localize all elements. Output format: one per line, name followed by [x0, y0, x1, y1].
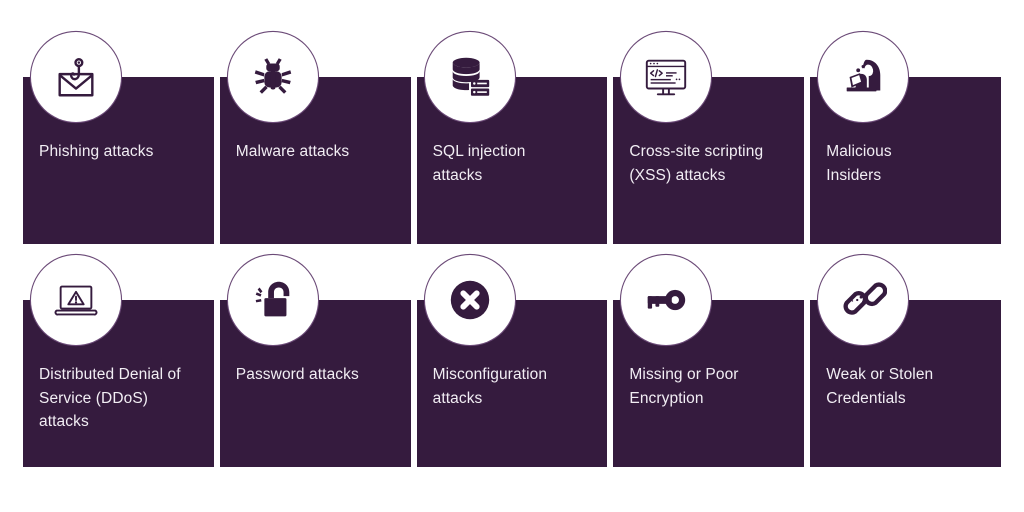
x-circle-icon	[425, 255, 515, 345]
card-label: Phishing attacks	[39, 140, 204, 164]
card-phishing[interactable]: Phishing attacks	[23, 32, 214, 244]
card-label: Cross-site scripting (XSS) attacks	[629, 140, 794, 187]
card-label: Password attacks	[236, 363, 401, 387]
card-encryption[interactable]: Missing or Poor Encryption	[613, 255, 804, 467]
card-row-top: Phishing attacks	[0, 32, 1024, 244]
card-label: Missing or Poor Encryption	[629, 363, 794, 410]
card-ddos[interactable]: Distributed Denial of Service (DDoS) att…	[23, 255, 214, 467]
card-row-bottom: Distributed Denial of Service (DDoS) att…	[0, 255, 1024, 467]
hooded-hacker-icon	[818, 32, 908, 122]
card-label: Malware attacks	[236, 140, 401, 164]
code-monitor-icon	[621, 32, 711, 122]
laptop-warning-icon	[31, 255, 121, 345]
card-label: SQL injection attacks	[433, 140, 598, 187]
broken-padlock-icon	[228, 255, 318, 345]
broken-chain-icon	[818, 255, 908, 345]
card-label: Distributed Denial of Service (DDoS) att…	[39, 363, 204, 434]
infographic-board: Phishing attacks	[0, 0, 1024, 512]
envelope-hook-icon	[31, 32, 121, 122]
card-sql-injection[interactable]: SQL injection attacks	[417, 32, 608, 244]
card-xss[interactable]: Cross-site scripting (XSS) attacks	[613, 32, 804, 244]
card-label: Misconfiguration attacks	[433, 363, 598, 410]
database-server-icon	[425, 32, 515, 122]
card-label: Malicious Insiders	[826, 140, 991, 187]
card-password[interactable]: Password attacks	[220, 255, 411, 467]
bug-icon	[228, 32, 318, 122]
card-misconfiguration[interactable]: Misconfiguration attacks	[417, 255, 608, 467]
key-icon	[621, 255, 711, 345]
card-malicious-insiders[interactable]: Malicious Insiders	[810, 32, 1001, 244]
card-credentials[interactable]: Weak or Stolen Credentials	[810, 255, 1001, 467]
card-malware[interactable]: Malware attacks	[220, 32, 411, 244]
card-label: Weak or Stolen Credentials	[826, 363, 991, 410]
